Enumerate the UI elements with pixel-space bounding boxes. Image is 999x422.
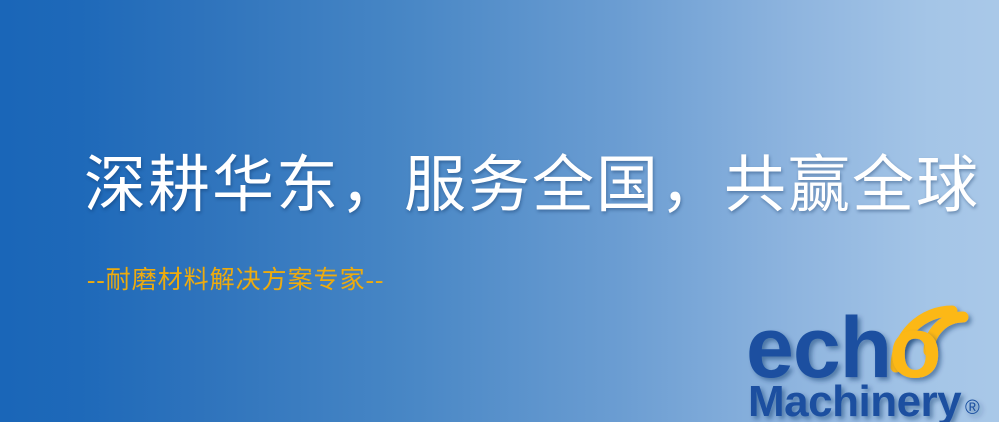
banner-subtitle: --耐磨材料解决方案专家-- xyxy=(87,266,384,296)
echo-machinery-logo: ech o Machinery ® xyxy=(746,296,999,422)
banner-headline: 深耕华东，服务全国，共赢全球 xyxy=(84,152,980,220)
hero-banner: 深耕华东，服务全国，共赢全球 --耐磨材料解决方案专家-- ech o xyxy=(0,0,999,422)
svg-text:Machinery: Machinery xyxy=(748,377,962,422)
svg-text:®: ® xyxy=(965,397,980,419)
logo-tagline: Machinery ® xyxy=(748,377,980,422)
